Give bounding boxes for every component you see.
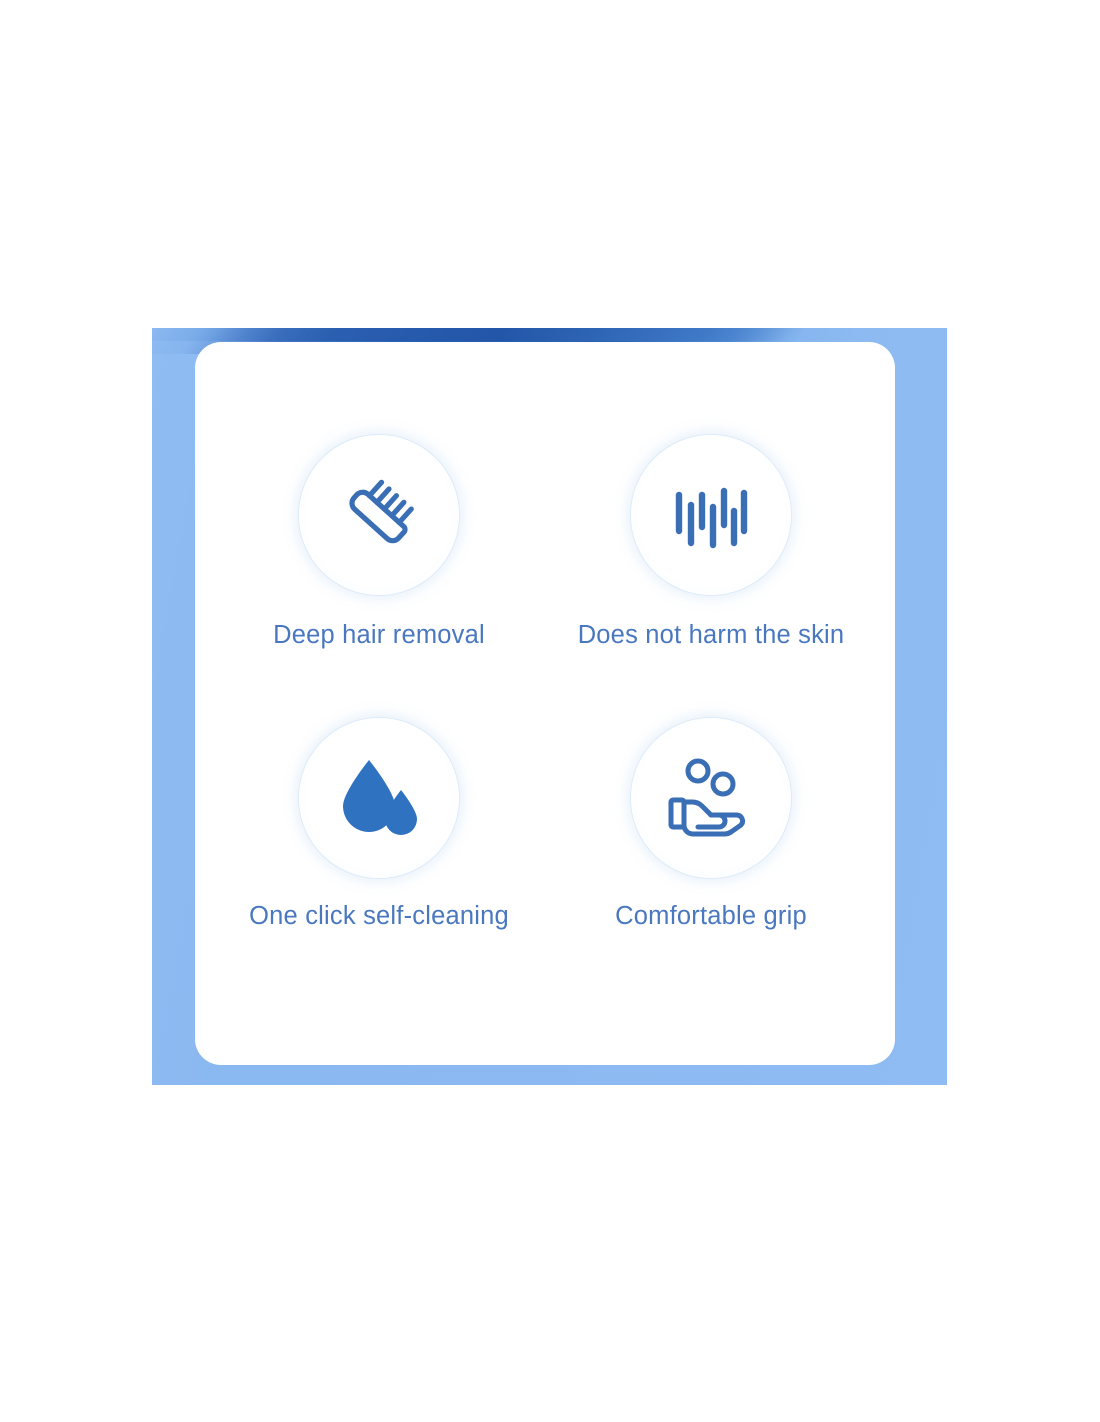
icon-badge [631,435,791,595]
feature-label: Deep hair removal [273,621,485,650]
feature-item-deep-hair-removal[interactable]: Deep hair removal [213,435,545,650]
feature-label: Comfortable grip [615,902,807,931]
icon-badge [631,718,791,878]
feature-item-comfortable-grip[interactable]: Comfortable grip [545,718,877,931]
feature-item-one-click-self-cleaning[interactable]: One click self-cleaning [213,718,545,931]
icon-badge [299,718,459,878]
comb-icon [331,467,427,563]
feature-label: Does not harm the skin [578,621,845,650]
feature-grid: Deep hair removal Does not harm t [195,342,895,1065]
feature-label: One click self-cleaning [249,902,509,931]
screenshot-canvas: Deep hair removal Does not harm t [0,0,1100,1422]
water-droplets-icon [333,752,425,844]
feature-item-does-not-harm-skin[interactable]: Does not harm the skin [545,435,877,650]
hand-with-bubbles-icon [665,752,757,844]
hair-strands-icon [669,473,753,557]
frame-accent-band-highlight [152,328,940,341]
icon-badge [299,435,459,595]
